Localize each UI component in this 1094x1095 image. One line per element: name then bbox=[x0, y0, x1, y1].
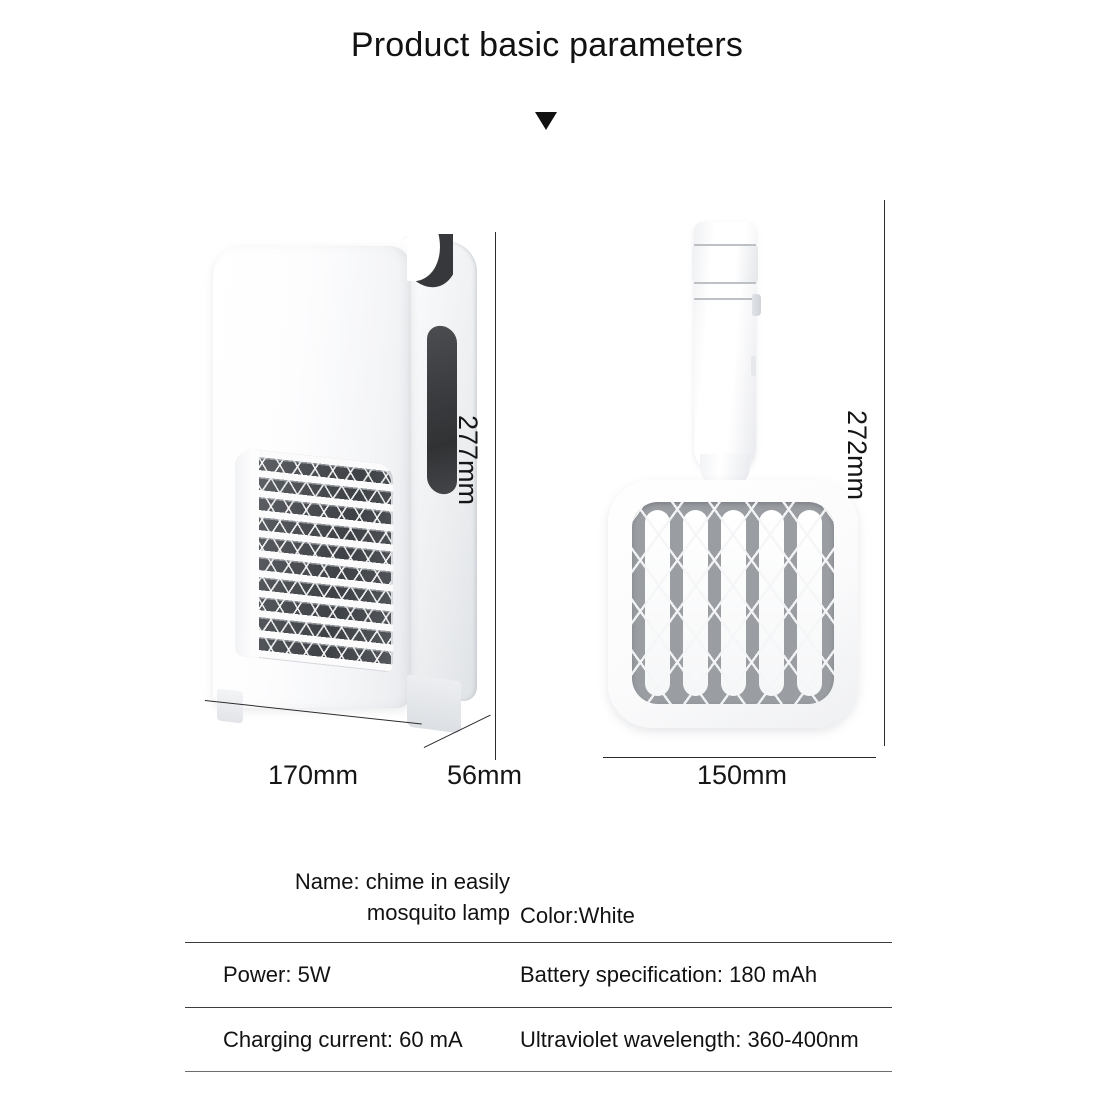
swatter-width-label: 150mm bbox=[697, 760, 787, 791]
lamp-foot-left bbox=[217, 688, 243, 723]
product-stage: 277mm 170mm 56mm 272mm bbox=[0, 0, 1094, 820]
lamp-height-dimension-line bbox=[495, 232, 496, 760]
lamp-grille bbox=[235, 447, 393, 672]
spec-battery-cell: Battery specification: 180 mAh bbox=[520, 943, 892, 1006]
swatter-height-label: 272mm bbox=[841, 410, 872, 500]
lamp-handle-slot bbox=[407, 234, 453, 300]
swatter-handle-collar bbox=[692, 244, 758, 284]
swatter-handle-ring bbox=[694, 244, 756, 246]
spec-product-name-line1: Name: chime in easily bbox=[185, 866, 510, 897]
swatter-racket-head bbox=[608, 480, 858, 728]
lamp-depth-label: 56mm bbox=[447, 760, 522, 791]
swatter-width-dimension-line bbox=[603, 757, 876, 758]
swatter-power-button bbox=[751, 356, 756, 376]
swatter-racket-net bbox=[632, 502, 834, 704]
swatter-racket-grid bbox=[632, 502, 834, 704]
swatter-handle-ring bbox=[694, 298, 756, 300]
swatter-height-dimension-line bbox=[884, 200, 885, 746]
spec-power-cell: Power: 5W bbox=[185, 943, 520, 1006]
table-row: Power: 5W Battery specification: 180 mAh bbox=[185, 943, 892, 1007]
spec-product-name-line2: mosquito lamp bbox=[185, 897, 510, 928]
spec-product-name-cell: Name: chime in easily mosquito lamp bbox=[185, 856, 520, 942]
spec-color-cell: Color:White bbox=[520, 856, 892, 941]
swatter-handle-ring bbox=[694, 282, 756, 284]
spec-uv-wavelength-cell: Ultraviolet wavelength: 360-400nm bbox=[520, 1008, 892, 1071]
lamp-foot-right bbox=[407, 674, 461, 733]
lamp-height-label: 277mm bbox=[452, 415, 483, 505]
spec-charging-current-cell: Charging current: 60 mA bbox=[185, 1008, 520, 1071]
product-image-mosquito-swatter bbox=[600, 222, 870, 734]
lamp-width-label: 170mm bbox=[268, 760, 358, 791]
table-row: Charging current: 60 mA Ultraviolet wave… bbox=[185, 1008, 892, 1072]
table-row: Name: chime in easily mosquito lamp Colo… bbox=[185, 856, 892, 943]
lamp-grille-left-lip bbox=[235, 447, 259, 658]
specification-table: Name: chime in easily mosquito lamp Colo… bbox=[185, 856, 892, 1072]
swatter-handle-clip bbox=[752, 294, 761, 316]
